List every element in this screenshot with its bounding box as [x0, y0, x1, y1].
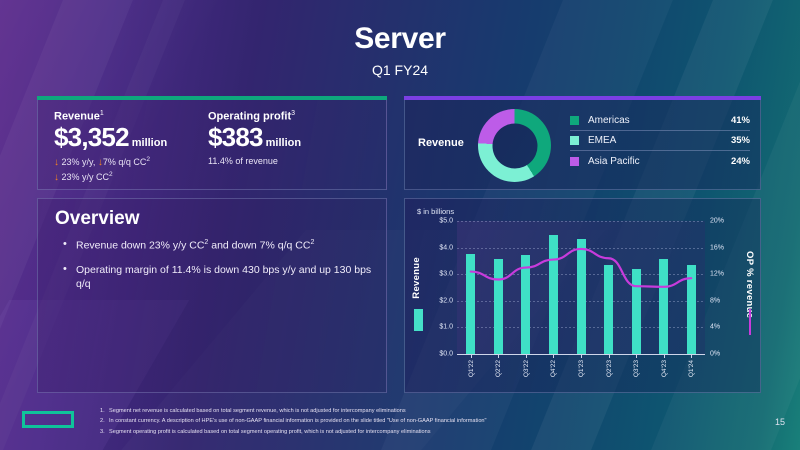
metric-revenue-unit: million — [132, 137, 167, 149]
chart-x-label: Q1'24 — [688, 360, 695, 377]
chart-x-tick — [526, 354, 527, 358]
chart-x-tick — [691, 354, 692, 358]
chart-left-axis-title: Revenue — [411, 257, 422, 299]
legend-swatch-icon — [570, 136, 579, 145]
footnote-ref: 3 — [291, 110, 295, 117]
chart-y-tick-right: 20% — [710, 218, 724, 225]
chart-plot-wrapper: $5.020%$4.016%$3.012%$2.08%$1.04%$0.00% … — [457, 221, 705, 359]
legend-value: 41% — [731, 115, 750, 126]
overview-title: Overview — [55, 208, 140, 230]
chart-line-legend-swatch — [749, 309, 751, 335]
chart-x-label: Q2'23 — [606, 360, 613, 377]
slide-header: Server Q1 FY24 — [0, 22, 800, 78]
chart-x-tick — [471, 354, 472, 358]
metric-operating-profit-value: $383million — [208, 124, 301, 151]
metric-revenue-value: $3,352million — [54, 124, 167, 151]
footnotes: 1.Segment net revenue is calculated base… — [100, 406, 660, 437]
chart-x-label: Q2'22 — [495, 360, 502, 377]
footnote-item: 3.Segment operating profit is calculated… — [100, 427, 660, 437]
chart-x-label: Q1'23 — [578, 360, 585, 377]
chart-y-tick-left: $2.0 — [439, 297, 453, 304]
chart-unit-label: $ in billions — [417, 207, 454, 216]
revenue-donut-chart — [478, 109, 551, 182]
chart-y-tick-right: 16% — [710, 244, 724, 251]
chart-y-tick-left: $4.0 — [439, 244, 453, 251]
chart-x-tick — [609, 354, 610, 358]
legend-row: Asia Pacific24% — [570, 151, 750, 171]
metric-operating-profit: Operating profit3 $383million 11.4% of r… — [208, 110, 301, 168]
chart-x-tick — [581, 354, 582, 358]
metric-operating-profit-sub: 11.4% of revenue — [208, 155, 301, 168]
hpe-logo — [22, 411, 74, 428]
page-subtitle: Q1 FY24 — [0, 62, 800, 78]
chart-x-label: Q4'23 — [661, 360, 668, 377]
footnote-item: 1.Segment net revenue is calculated base… — [100, 406, 660, 416]
down-arrow-icon: ↓ — [54, 172, 59, 183]
chart-y-tick-right: 12% — [710, 271, 724, 278]
legend-label: EMEA — [588, 135, 731, 146]
revenue-breakdown-panel: Revenue Americas41%EMEA35%Asia Pacific24… — [404, 99, 761, 190]
footnote-ref: 2 — [146, 156, 150, 163]
footnote-ref: 2 — [109, 171, 113, 178]
panel-accent-bar — [404, 96, 761, 100]
chart-x-label: Q3'22 — [523, 360, 530, 377]
donut-chart-label: Revenue — [418, 137, 464, 149]
footnote-ref: 1 — [100, 110, 104, 117]
legend-swatch-icon — [570, 157, 579, 166]
chart-y-tick-left: $1.0 — [439, 324, 453, 331]
metric-revenue-change: ↓ 23% y/y, ↓7% q/q CC2 ↓ 23% y/y CC2 — [54, 155, 167, 186]
chart-y-tick-right: 0% — [710, 351, 720, 358]
legend-value: 24% — [731, 156, 750, 167]
chart-y-tick-left: $0.0 — [439, 351, 453, 358]
legend-row: Americas41% — [570, 111, 750, 131]
panel-accent-bar — [37, 96, 387, 100]
chart-y-tick-right: 8% — [710, 297, 720, 304]
legend-row: EMEA35% — [570, 131, 750, 151]
chart-x-label: Q4'22 — [550, 360, 557, 377]
revenue-trend-chart-panel: $ in billions Revenue OP % revenue $5.02… — [404, 198, 761, 393]
overview-bullet: Revenue down 23% y/y CC2 and down 7% q/q… — [62, 238, 377, 253]
overview-panel: Overview Revenue down 23% y/y CC2 and do… — [37, 198, 387, 393]
legend-label: Americas — [588, 115, 731, 126]
chart-y-tick-left: $5.0 — [439, 218, 453, 225]
overview-bullet: Operating margin of 11.4% is down 430 bp… — [62, 263, 377, 291]
legend-label: Asia Pacific — [588, 156, 731, 167]
chart-x-tick — [636, 354, 637, 358]
chart-x-tick — [664, 354, 665, 358]
donut-legend: Americas41%EMEA35%Asia Pacific24% — [570, 111, 750, 171]
chart-x-tick — [553, 354, 554, 358]
chart-y-tick-left: $3.0 — [439, 271, 453, 278]
page-title: Server — [0, 22, 800, 55]
chart-x-tick — [498, 354, 499, 358]
op-percent-line — [457, 221, 705, 354]
chart-y-tick-right: 4% — [710, 324, 720, 331]
chart-x-label: Q1'22 — [468, 360, 475, 377]
down-arrow-icon: ↓ — [54, 157, 59, 168]
legend-swatch-icon — [570, 116, 579, 125]
legend-value: 35% — [731, 135, 750, 146]
metric-operating-profit-unit: million — [266, 137, 301, 149]
overview-bullet-list: Revenue down 23% y/y CC2 and down 7% q/q… — [62, 238, 377, 301]
metrics-panel: Revenue1 $3,352million ↓ 23% y/y, ↓7% q/… — [37, 99, 387, 190]
chart-bar-legend-swatch — [414, 309, 423, 331]
page-number: 15 — [775, 417, 785, 427]
metric-revenue: Revenue1 $3,352million ↓ 23% y/y, ↓7% q/… — [54, 110, 167, 186]
chart-x-label: Q3'23 — [633, 360, 640, 377]
footnote-item: 2.In constant currency. A description of… — [100, 416, 660, 426]
